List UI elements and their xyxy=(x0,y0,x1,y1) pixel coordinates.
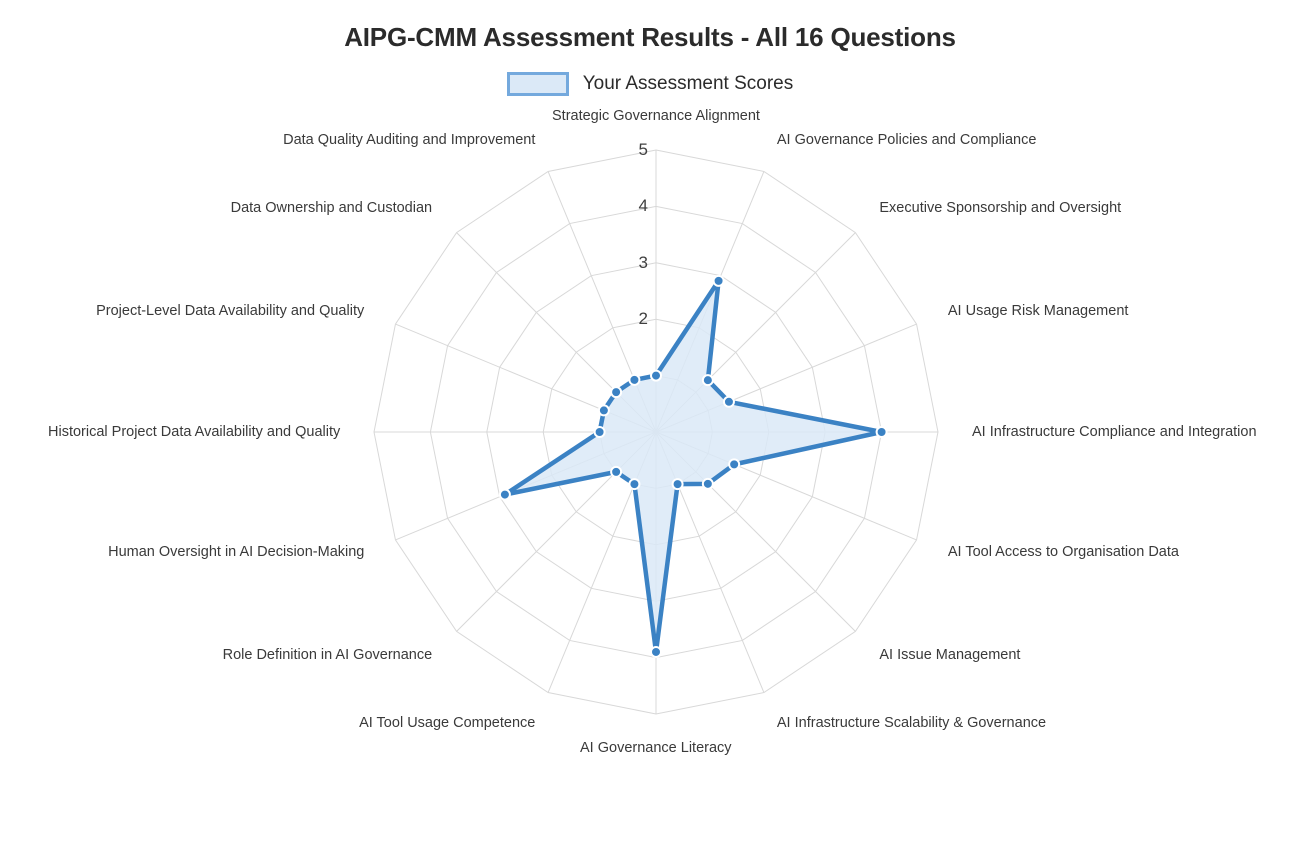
axis-label-data-quality-auditing-and-improvement: Data Quality Auditing and Improvement xyxy=(283,133,535,148)
axis-label-human-oversight-in-ai-decision-making: Human Oversight in AI Decision-Making xyxy=(108,545,364,560)
radial-tick-5: 5 xyxy=(620,140,648,160)
data-point[interactable] xyxy=(500,490,510,500)
axis-label-ai-issue-management: AI Issue Management xyxy=(879,648,1020,663)
data-point[interactable] xyxy=(651,371,661,381)
data-point[interactable] xyxy=(611,467,621,477)
axis-label-ai-infrastructure-compliance-and-integration: AI Infrastructure Compliance and Integra… xyxy=(972,425,1257,440)
data-point[interactable] xyxy=(595,427,605,437)
data-point[interactable] xyxy=(703,479,713,489)
data-point[interactable] xyxy=(724,397,734,407)
axis-label-ai-governance-literacy: AI Governance Literacy xyxy=(580,741,732,756)
data-point[interactable] xyxy=(599,405,609,415)
radial-tick-2: 2 xyxy=(620,309,648,329)
data-point[interactable] xyxy=(611,387,621,397)
axis-label-historical-project-data-availability-and-quality: Historical Project Data Availability and… xyxy=(48,425,340,440)
radial-tick-3: 3 xyxy=(620,253,648,273)
data-point[interactable] xyxy=(629,375,639,385)
axis-label-data-ownership-and-custodian: Data Ownership and Custodian xyxy=(231,201,433,216)
axis-label-strategic-governance-alignment: Strategic Governance Alignment xyxy=(552,109,760,124)
series-area-your-assessment-scores xyxy=(505,281,882,652)
data-point[interactable] xyxy=(703,375,713,385)
axis-label-ai-tool-access-to-organisation-data: AI Tool Access to Organisation Data xyxy=(948,545,1179,560)
data-point[interactable] xyxy=(714,276,724,286)
axis-label-executive-sponsorship-and-oversight: Executive Sponsorship and Oversight xyxy=(879,201,1121,216)
axis-label-ai-tool-usage-competence: AI Tool Usage Competence xyxy=(359,716,535,731)
data-point[interactable] xyxy=(729,459,739,469)
axis-label-project-level-data-availability-and-quality: Project-Level Data Availability and Qual… xyxy=(96,304,364,319)
axis-label-role-definition-in-ai-governance: Role Definition in AI Governance xyxy=(223,648,433,663)
data-point[interactable] xyxy=(651,647,661,657)
axis-label-ai-governance-policies-and-compliance: AI Governance Policies and Compliance xyxy=(777,133,1037,148)
data-point[interactable] xyxy=(673,479,683,489)
radial-tick-4: 4 xyxy=(620,196,648,216)
data-point[interactable] xyxy=(877,427,887,437)
axis-label-ai-infrastructure-scalability-governance: AI Infrastructure Scalability & Governan… xyxy=(777,716,1046,731)
radar-chart: AIPG-CMM Assessment Results - All 16 Que… xyxy=(0,0,1300,867)
axis-label-ai-usage-risk-management: AI Usage Risk Management xyxy=(948,304,1129,319)
data-point[interactable] xyxy=(629,479,639,489)
